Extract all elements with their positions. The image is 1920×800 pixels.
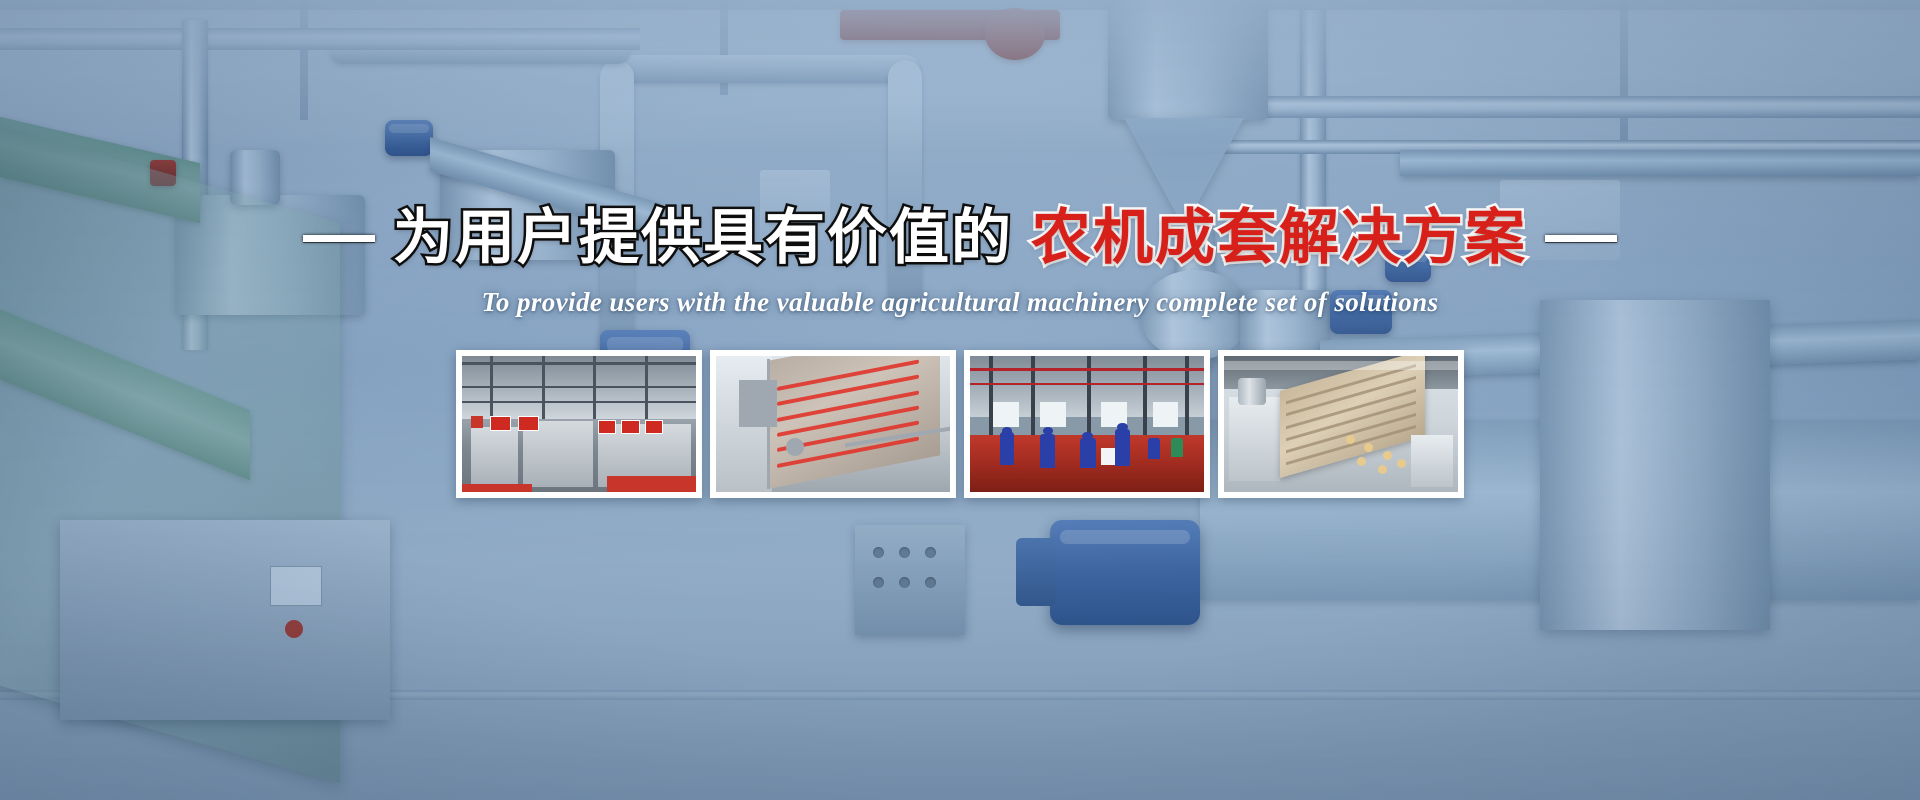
thumbnail-factory-hall[interactable] <box>456 350 702 498</box>
hero-banner: 为用户提供具有价值的 农机成套解决方案 To provide users wit… <box>0 0 1920 800</box>
thumbnail-image-3 <box>970 356 1204 492</box>
thumbnail-image-2 <box>716 356 950 492</box>
banner-content: 为用户提供具有价值的 农机成套解决方案 To provide users wit… <box>0 0 1920 800</box>
thumbnail-image-4 <box>1224 356 1458 492</box>
thumbnail-image-1 <box>462 356 696 492</box>
thumbnail-dryer-conveyor[interactable] <box>710 350 956 498</box>
headline-right-rule <box>1545 235 1617 242</box>
headline-white-text: 为用户提供具有价值的 <box>393 205 1013 271</box>
thumbnail-inclined-conveyor[interactable] <box>1218 350 1464 498</box>
headline-red-text: 农机成套解决方案 <box>1031 205 1527 271</box>
thumbnail-workers-chilies[interactable] <box>964 350 1210 498</box>
thumbnail-strip <box>456 350 1464 498</box>
subtitle: To provide users with the valuable agric… <box>481 287 1438 318</box>
headline: 为用户提供具有价值的 农机成套解决方案 <box>303 205 1617 271</box>
headline-left-rule <box>303 235 375 242</box>
